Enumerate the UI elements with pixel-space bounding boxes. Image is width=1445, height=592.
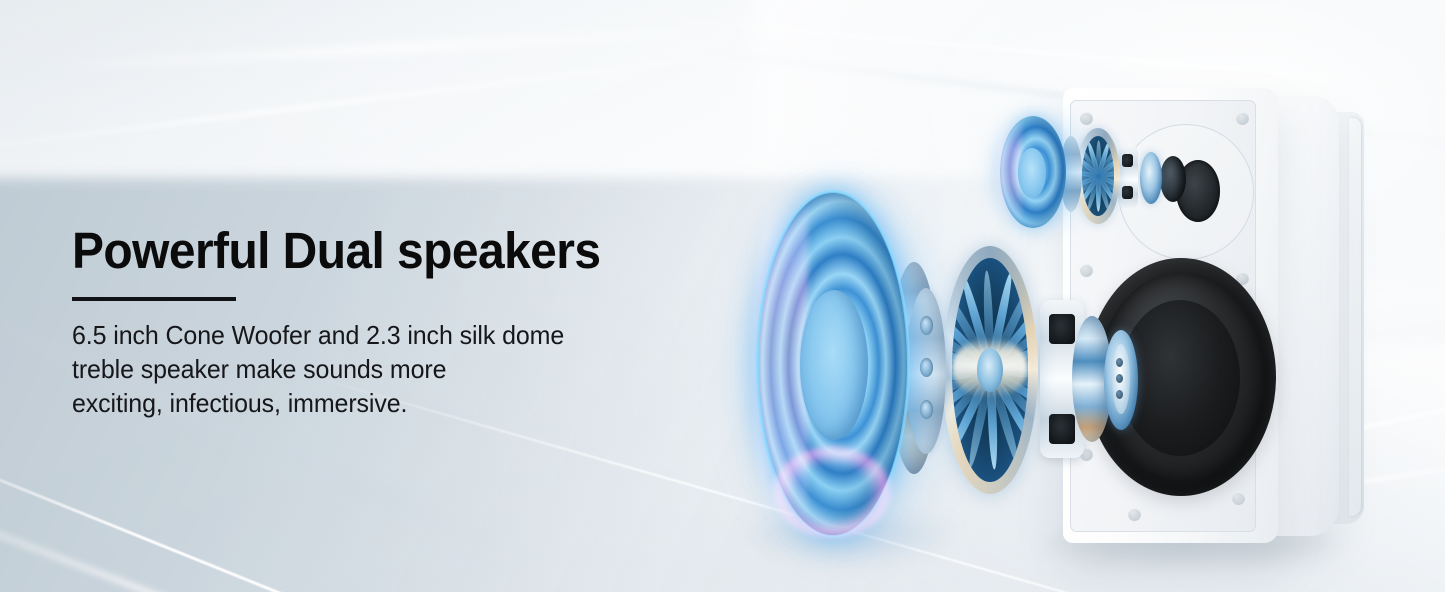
description-line-3: exciting, infectious, immersive. [72,387,725,421]
description-line-2: treble speaker make sounds more [72,353,725,387]
coil-vent-hole [1116,390,1123,399]
banner-copy-block: Powerful Dual speakers 6.5 inch Cone Woo… [72,224,752,420]
tweeter-voice-coil [1140,152,1162,204]
baffle-screw [1232,492,1245,505]
banner-description: 6.5 inch Cone Woofer and 2.3 inch silk d… [72,319,725,420]
baffle-screw [1128,508,1141,521]
page-title: Powerful Dual speakers [72,224,711,277]
woofer-inner-cone [1120,300,1240,456]
product-feature-banner: Powerful Dual speakers 6.5 inch Cone Woo… [0,0,1445,592]
tweeter-plate-vent [1122,154,1133,167]
tweeter-magnet [1160,156,1186,202]
coil-vent-hole [1116,358,1123,367]
tweeter-plate-vent [1122,186,1133,199]
tweeter-dome [1018,148,1046,198]
baffle-screw [1080,264,1093,277]
title-underline-rule [72,297,236,301]
baffle-screw [1236,112,1249,125]
coil-vent-hole [1116,374,1123,383]
baffle-screw [1080,112,1093,125]
cone-magenta-highlight [772,446,892,538]
description-line-1: 6.5 inch Cone Woofer and 2.3 inch silk d… [72,319,725,353]
turbine-hub [977,348,1003,392]
cabinet-wall-bracket [1349,118,1361,516]
